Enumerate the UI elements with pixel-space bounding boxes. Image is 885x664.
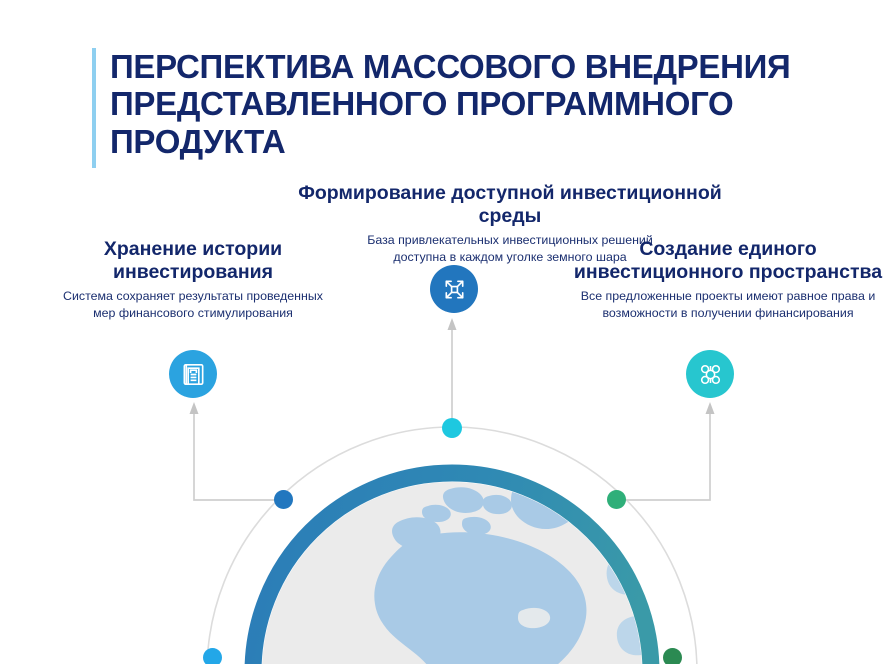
callout-right-heading: Создание единого инвестиционного простра… xyxy=(570,238,885,283)
ledger-book-icon[interactable] xyxy=(169,350,217,398)
arc-dot-bottom-right xyxy=(663,648,682,664)
arc-dot-right xyxy=(607,490,626,509)
slide-canvas: ПЕРСПЕКТИВА МАССОВОГО ВНЕДРЕНИЯ ПРЕДСТАВ… xyxy=(0,0,885,664)
arc-dot-left xyxy=(274,490,293,509)
expand-arrows-icon[interactable] xyxy=(430,265,478,313)
globe-halo xyxy=(238,458,666,664)
connector-left xyxy=(194,412,284,500)
connector-left-arrowhead xyxy=(190,402,199,414)
network-molecule-glyph xyxy=(697,361,724,388)
page-title: ПЕРСПЕКТИВА МАССОВОГО ВНЕДРЕНИЯ ПРЕДСТАВ… xyxy=(110,48,852,168)
globe-sphere xyxy=(262,482,642,664)
callout-center-heading: Формирование доступной инвестиционной ср… xyxy=(270,182,750,227)
callout-right-body: Все предложенные проекты имеют равное пр… xyxy=(570,288,885,321)
page-title-block: ПЕРСПЕКТИВА МАССОВОГО ВНЕДРЕНИЯ ПРЕДСТАВ… xyxy=(92,48,852,168)
arc-dot-top xyxy=(442,418,462,438)
network-molecule-icon[interactable] xyxy=(686,350,734,398)
connector-right-arrowhead xyxy=(706,402,715,414)
expand-arrows-glyph xyxy=(441,276,468,303)
callout-left-body: Система сохраняет результаты проведенных… xyxy=(62,288,324,321)
connector-right xyxy=(617,412,710,500)
callout-right: Создание единого инвестиционного простра… xyxy=(570,238,885,321)
title-accent-bar xyxy=(92,48,96,168)
orbit-arc-outer xyxy=(207,427,697,664)
globe-ring xyxy=(253,473,651,664)
arc-dot-bottom-left xyxy=(203,648,222,664)
connector-center-arrowhead xyxy=(448,318,457,330)
ledger-book-glyph xyxy=(180,361,207,388)
